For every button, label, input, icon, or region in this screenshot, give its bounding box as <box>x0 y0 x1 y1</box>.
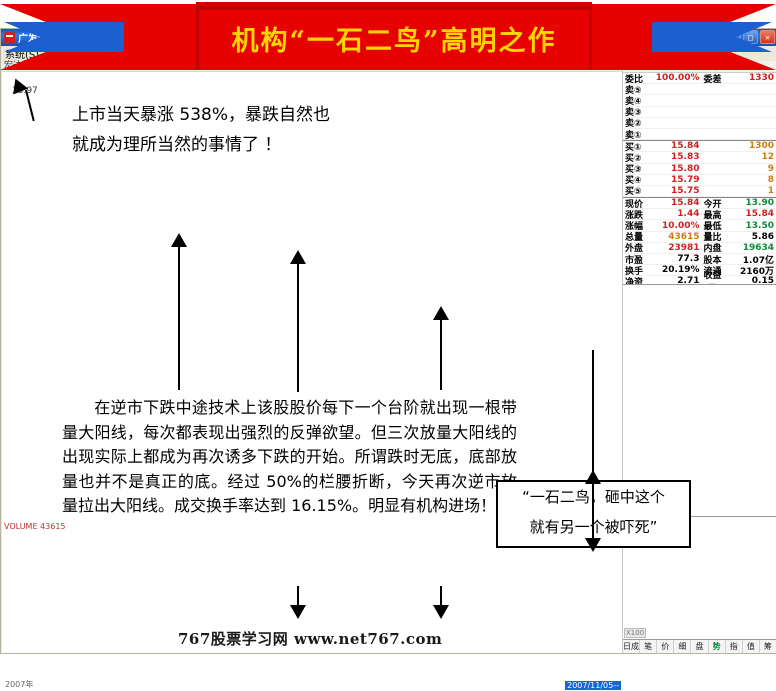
body-annotation-text: 在逆市下跌中途技术上该股股价每下一个台阶就出现一根带量大阳线，每次都表现出强烈的… <box>62 398 517 515</box>
ribbon-fold <box>196 2 592 10</box>
ask-level-row: 卖① <box>623 129 776 140</box>
top-annotation-line2: 就成为理所当然的事情了 ！ <box>72 130 402 160</box>
quote-tab-指[interactable]: 指 <box>726 640 743 653</box>
top-annotation-line1: 上市当天暴涨 538%，暴跌自然也 <box>72 100 402 130</box>
row-value2: 13.90 <box>730 198 775 208</box>
row-value2: 1 <box>730 186 775 196</box>
quote-tab-值[interactable]: 值 <box>743 640 760 653</box>
quote-tab-细[interactable]: 细 <box>674 640 691 653</box>
row-value2: 9 <box>730 164 775 174</box>
row-value2: 1300 <box>730 141 775 151</box>
row-value: 15.83 <box>655 152 704 162</box>
quote-panel-tabs[interactable]: 日成笔价细盘势指值筹 <box>623 639 776 653</box>
minimize-button[interactable]: _ <box>726 30 741 44</box>
ask-levels: 卖⑤卖④卖③卖②卖① <box>623 84 776 140</box>
committee-diff-label: 委差 <box>704 72 730 85</box>
row-value2: 8 <box>730 175 775 185</box>
bid-levels: 买①15.841300买②15.8312买③15.809买④15.798买⑤15… <box>623 140 776 197</box>
bid-level-row: 买⑤15.751 <box>623 186 776 197</box>
quote-tab-盘[interactable]: 盘 <box>691 640 708 653</box>
row-value2: 5.86 <box>730 232 775 242</box>
row-value: 77.3 <box>655 254 704 264</box>
row-value2: 19634 <box>730 243 775 253</box>
row-value: 23981 <box>655 243 704 253</box>
menu-item-trade[interactable]: 交易(T) <box>53 46 87 61</box>
row-value: 20.19% <box>655 265 704 275</box>
arrow-head-icon <box>433 605 449 619</box>
row-value: 1.44 <box>655 209 704 219</box>
committee-diff-value: 1330 <box>730 73 775 83</box>
close-button[interactable]: ✕ <box>760 30 775 44</box>
quote-tab-筹[interactable]: 筹 <box>760 640 776 653</box>
committee-ratio-value: 100.00% <box>655 73 704 83</box>
watermark: 767股票学习网 www.net767.com <box>178 628 442 649</box>
window-titlebar: 广发证券至强版V6.59 - [分 _ □ ✕ <box>1 29 776 46</box>
menu-item-system[interactable]: 系统(S) <box>5 46 39 61</box>
row-value2: 13.50 <box>730 221 775 231</box>
arrow-head-icon <box>433 306 449 320</box>
arrow-head-icon <box>585 470 601 484</box>
quote-tab-价[interactable]: 价 <box>657 640 674 653</box>
row-label: 买⑤ <box>625 184 655 197</box>
menu-item-function[interactable]: 功能(F) <box>101 46 135 61</box>
row-value2: 12 <box>730 152 775 162</box>
chart-title: 宏达经编(日线) <box>2 61 622 72</box>
x-axis-start-date: 2007年 <box>5 679 33 690</box>
menu-bar: 系统(S) 交易(T) 功能(F) <box>1 46 776 61</box>
quote-tab-势[interactable]: 势 <box>709 640 726 653</box>
row-value: 15.84 <box>655 141 704 151</box>
row-value: 43615 <box>655 232 704 242</box>
row-value2: 15.84 <box>730 209 775 219</box>
row-value: 15.75 <box>655 186 704 196</box>
row-value2: 2160万 <box>730 264 775 277</box>
arrow-head-icon <box>290 250 306 264</box>
volume-indicator-label: VOLUME 43615 <box>4 522 66 531</box>
row-value: 15.79 <box>655 175 704 185</box>
window-controls: _ □ ✕ <box>726 30 775 44</box>
window-title: 广发证券至强版V6.59 - [分 <box>18 30 146 45</box>
row-value: 15.80 <box>655 164 704 174</box>
app-icon <box>4 32 15 43</box>
top-annotation-note: 上市当天暴涨 538%，暴跌自然也 就成为理所当然的事情了 ！ <box>72 100 402 160</box>
arrow-head-icon <box>585 538 601 552</box>
arrow-head-icon <box>290 605 306 619</box>
quote-tab-日成[interactable]: 日成 <box>623 640 640 653</box>
body-annotation-note: 在逆市下跌中途技术上该股股价每下一个台阶就出现一根带量大阳线，每次都表现出强烈的… <box>62 396 517 519</box>
quote-tab-笔[interactable]: 笔 <box>640 640 657 653</box>
row-value: 10.00% <box>655 221 704 231</box>
volume-scale-label: X100 <box>624 628 646 638</box>
maximize-button[interactable]: □ <box>743 30 758 44</box>
quote-statistics: 现价15.84今开13.90涨跌1.44最高15.84涨幅10.00%最低13.… <box>623 197 776 288</box>
quote-panel[interactable]: 宏达经编 委比 100.00% 委差 1330 卖⑤卖④卖③卖②卖① 买①15.… <box>622 61 776 653</box>
x-axis-end-date: 2007/11/05-- <box>565 681 621 690</box>
arrow-head-icon <box>171 233 187 247</box>
row-value: 15.84 <box>655 198 704 208</box>
row-label: 卖① <box>625 128 655 141</box>
